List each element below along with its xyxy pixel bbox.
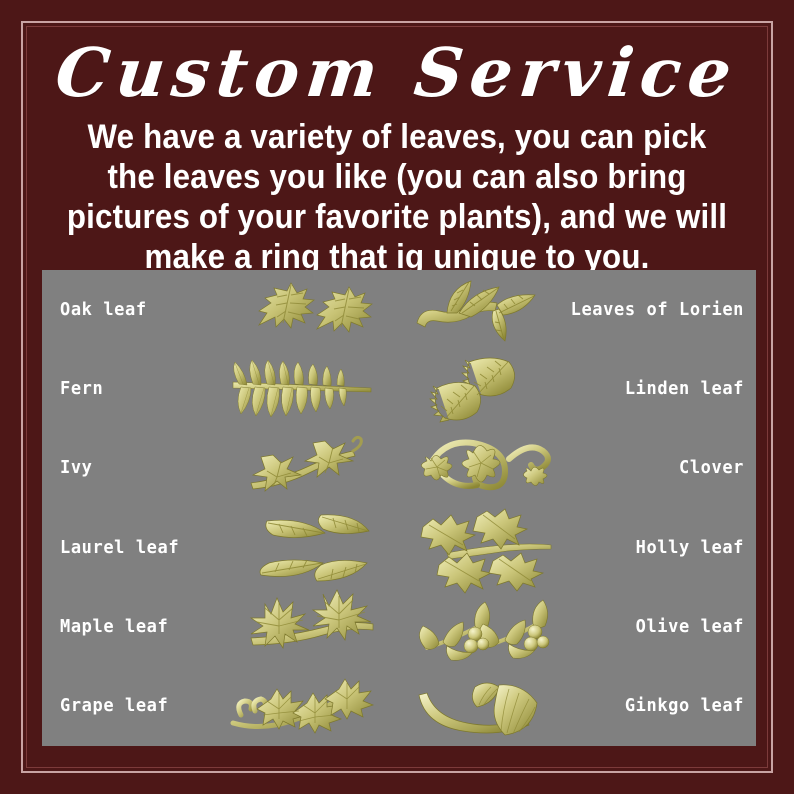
catalog-item-label: Fern [42, 378, 103, 399]
catalog-row: Ivy [42, 429, 756, 508]
catalog-item-linden-leaf[interactable]: Linden leaf [399, 349, 756, 428]
catalog-row: Maple leaf [42, 587, 756, 666]
catalog-item-label: Clover [679, 458, 756, 479]
catalog-row: Laurel leaf [42, 508, 756, 587]
catalog-item-label: Ginkgo leaf [625, 696, 756, 717]
clover-art [413, 431, 583, 505]
catalog-item-label: Maple leaf [42, 616, 168, 637]
page-title: Custom Service [0, 36, 794, 110]
catalog-item-ivy[interactable]: Ivy [42, 429, 399, 508]
catalog-item-laurel-leaf[interactable]: Laurel leaf [42, 508, 399, 587]
catalog-item-label: Oak leaf [42, 299, 147, 320]
catalog-item-holly-leaf[interactable]: Holly leaf [399, 508, 756, 587]
catalog-row: Grape leaf [42, 667, 756, 746]
linden-leaf-art [413, 352, 583, 426]
catalog-row: Oak leaf [42, 270, 756, 349]
maple-leaf-art [221, 590, 391, 664]
oak-leaf-art [221, 273, 391, 347]
catalog-item-clover[interactable]: Clover [399, 429, 756, 508]
leaf-catalog-panel: Oak leaf [42, 270, 756, 746]
catalog-item-maple-leaf[interactable]: Maple leaf [42, 587, 399, 666]
catalog-item-label: Ivy [42, 458, 93, 479]
catalog-item-label: Leaves of Lorien [571, 299, 756, 320]
catalog-item-olive-leaf[interactable]: Olive leaf [399, 587, 756, 666]
catalog-item-label: Linden leaf [625, 378, 756, 399]
lorien-leaf-art [413, 273, 583, 347]
grape-leaf-art [221, 669, 391, 743]
promo-banner: Custom Service We have a variety of leav… [0, 0, 794, 794]
holly-leaf-art [413, 511, 583, 585]
catalog-item-fern[interactable]: Fern [42, 349, 399, 428]
description-text: We have a variety of leaves, you can pic… [61, 117, 733, 277]
catalog-item-label: Olive leaf [636, 616, 756, 637]
catalog-item-grape-leaf[interactable]: Grape leaf [42, 667, 399, 746]
catalog-row: Fern [42, 349, 756, 428]
catalog-item-ginkgo-leaf[interactable]: Ginkgo leaf [399, 667, 756, 746]
catalog-item-label: Grape leaf [42, 696, 168, 717]
olive-leaf-art [413, 590, 583, 664]
ginkgo-leaf-art [413, 669, 583, 743]
catalog-item-label: Holly leaf [636, 537, 756, 558]
laurel-leaf-art [221, 511, 391, 585]
catalog-item-oak-leaf[interactable]: Oak leaf [42, 270, 399, 349]
catalog-item-leaves-of-lorien[interactable]: Leaves of Lorien [399, 270, 756, 349]
fern-art [221, 352, 391, 426]
ivy-art [221, 431, 391, 505]
catalog-item-label: Laurel leaf [42, 537, 179, 558]
